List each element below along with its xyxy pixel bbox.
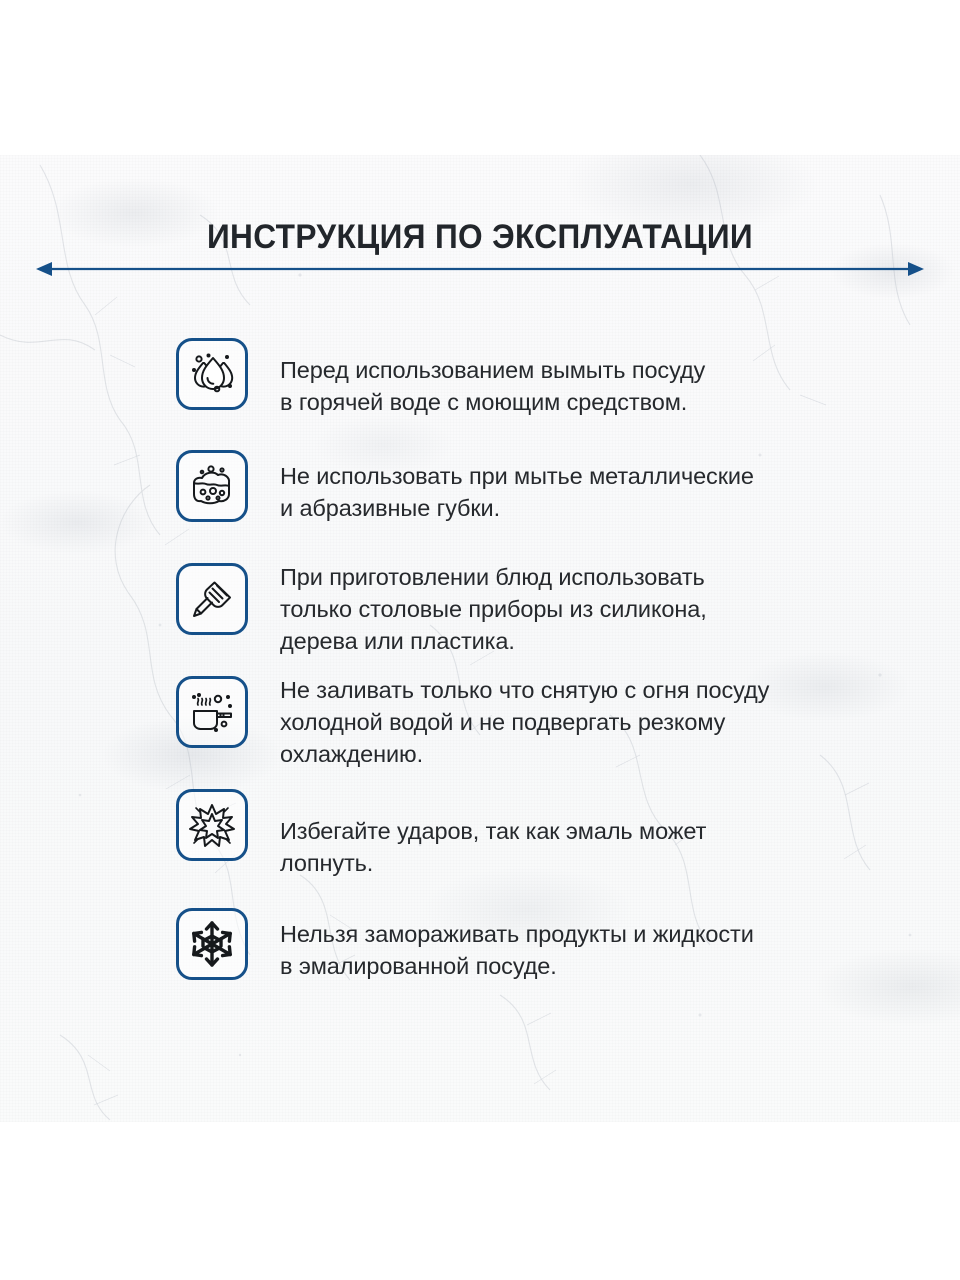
hot-pot-steam-icon [176,676,248,748]
impact-burst-icon [176,789,248,861]
list-item-text: Не использовать при мытье металлические … [280,460,754,524]
list-item: Не использовать при мытье металлические … [176,450,754,524]
list-item: Перед использованием вымыть посуду в гор… [176,338,705,418]
list-item-text: При приготовлении блюд использовать толь… [280,561,707,657]
list-item: Избегайте ударов, так как эмаль может ло… [176,789,706,879]
list-item-text: Избегайте ударов, так как эмаль может ло… [280,815,706,879]
list-item-text: Не заливать только что снятую с огня пос… [280,674,769,770]
spatula-icon [176,563,248,635]
snowflake-icon [176,908,248,980]
list-item: Нельзя замораживать продукты и жидкости … [176,908,754,982]
water-drops-icon [176,338,248,410]
list-item: Не заливать только что снятую с огня пос… [176,676,769,770]
instruction-card: ИНСТРУКЦИЯ ПО ЭКСПЛУАТАЦИИ [0,0,960,1280]
list-item-text: Перед использованием вымыть посуду в гор… [280,354,705,418]
sponge-icon [176,450,248,522]
list-item-text: Нельзя замораживать продукты и жидкости … [280,918,754,982]
list-item: При приготовлении блюд использовать толь… [176,563,707,657]
instruction-list: Перед использованием вымыть посуду в гор… [0,0,960,1280]
